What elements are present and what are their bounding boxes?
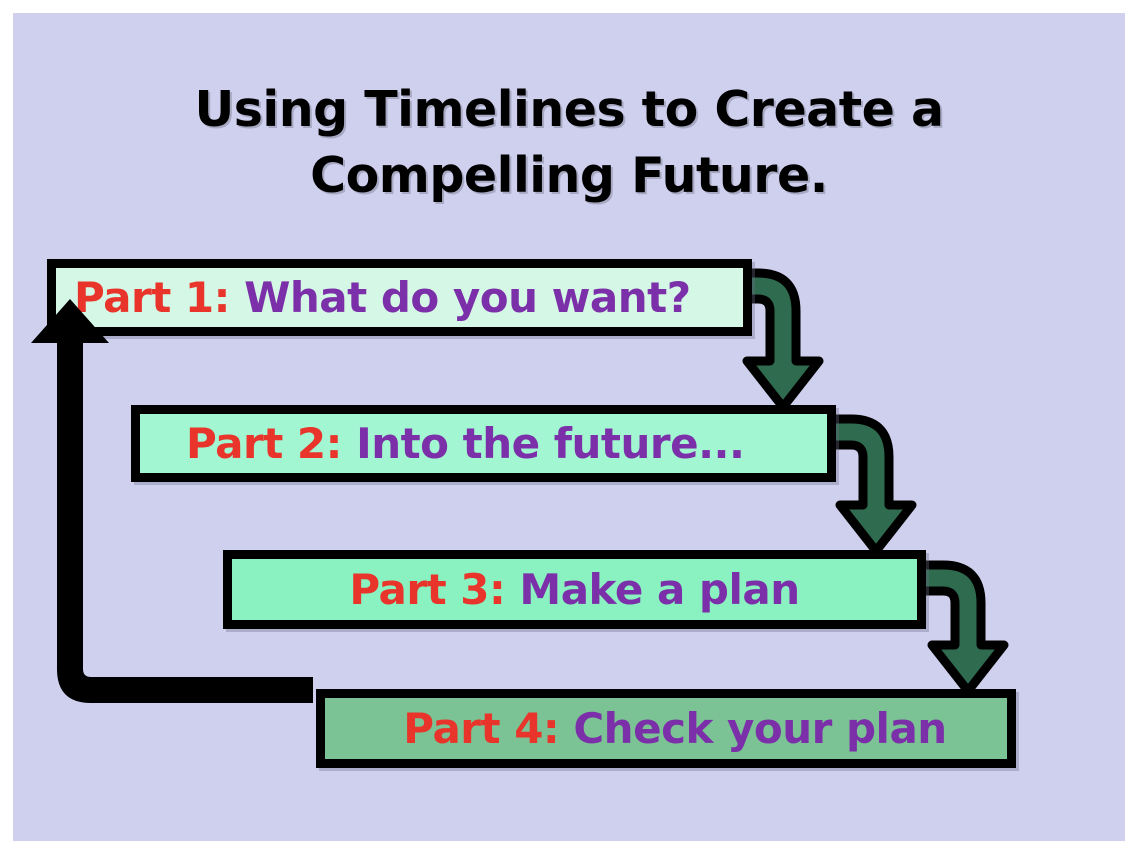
slide-root: Using Timelines to Create a Compelling F… xyxy=(0,0,1138,854)
return-arrow-layer xyxy=(13,13,1125,841)
connector-arrow-4-to-1 xyxy=(31,299,313,703)
slide-canvas: Using Timelines to Create a Compelling F… xyxy=(13,13,1125,841)
